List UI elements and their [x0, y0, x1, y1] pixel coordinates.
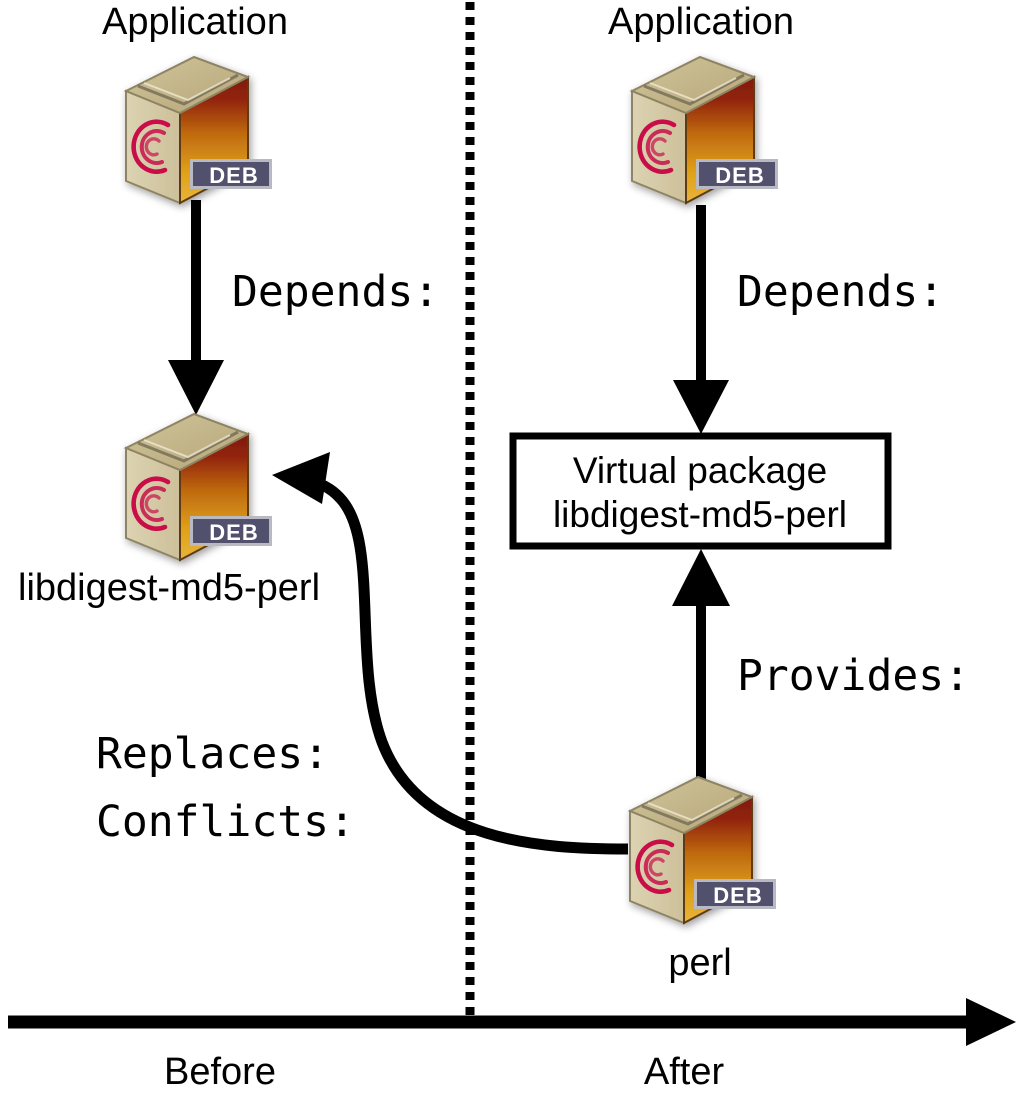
- virtual-package-line2: libdigest-md5-perl: [553, 494, 847, 535]
- after-depends-arrow: [673, 205, 729, 434]
- replaces-label: Replaces:: [96, 729, 329, 779]
- timeline-axis: [8, 998, 1016, 1046]
- deb-badge-label: DEB: [715, 163, 764, 188]
- diagram-canvas: Application DEB Depends: DEB libdigest-m…: [0, 0, 1024, 1094]
- timeline-before-label: Before: [164, 1051, 276, 1093]
- deb-badge-label: DEB: [713, 883, 762, 908]
- provides-arrow: [672, 549, 730, 786]
- before-application-package-icon: DEB: [126, 57, 272, 203]
- perl-package-icon: DEB: [630, 777, 776, 923]
- provides-label: Provides:: [737, 651, 970, 701]
- before-depends-label: Depends:: [232, 267, 439, 317]
- before-libdigest-package-label: libdigest-md5-perl: [18, 567, 320, 609]
- before-libdigest-package-icon: DEB: [126, 414, 272, 560]
- conflicts-label: Conflicts:: [96, 797, 355, 847]
- before-application-title: Application: [102, 1, 288, 43]
- deb-badge-label: DEB: [209, 163, 258, 188]
- virtual-package-box: Virtual package libdigest-md5-perl: [513, 436, 888, 546]
- after-application-title: Application: [608, 1, 794, 43]
- perl-package-label: perl: [668, 942, 731, 984]
- virtual-package-line1: Virtual package: [573, 450, 827, 491]
- after-application-package-icon: DEB: [632, 57, 778, 203]
- after-depends-label: Depends:: [737, 267, 944, 317]
- before-depends-arrow: [168, 200, 224, 415]
- timeline-after-label: After: [644, 1051, 725, 1093]
- deb-badge-label: DEB: [209, 520, 258, 545]
